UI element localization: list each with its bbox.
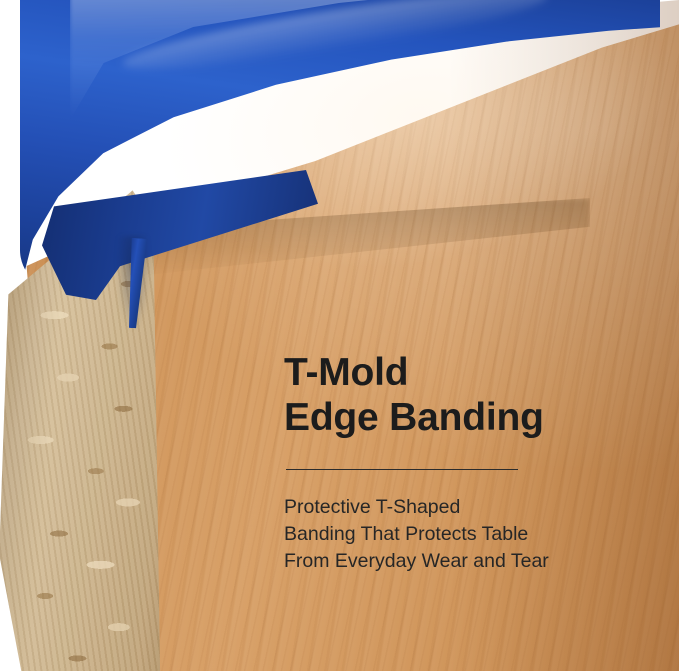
caption-overlay: T-Mold Edge Banding Protective T-Shaped … bbox=[284, 350, 656, 575]
overlay-subtitle: Protective T-Shaped Banding That Protect… bbox=[284, 494, 656, 575]
product-image: T-Mold Edge Banding Protective T-Shaped … bbox=[0, 0, 679, 671]
overlay-divider bbox=[286, 469, 518, 470]
overlay-title: T-Mold Edge Banding bbox=[284, 350, 656, 440]
